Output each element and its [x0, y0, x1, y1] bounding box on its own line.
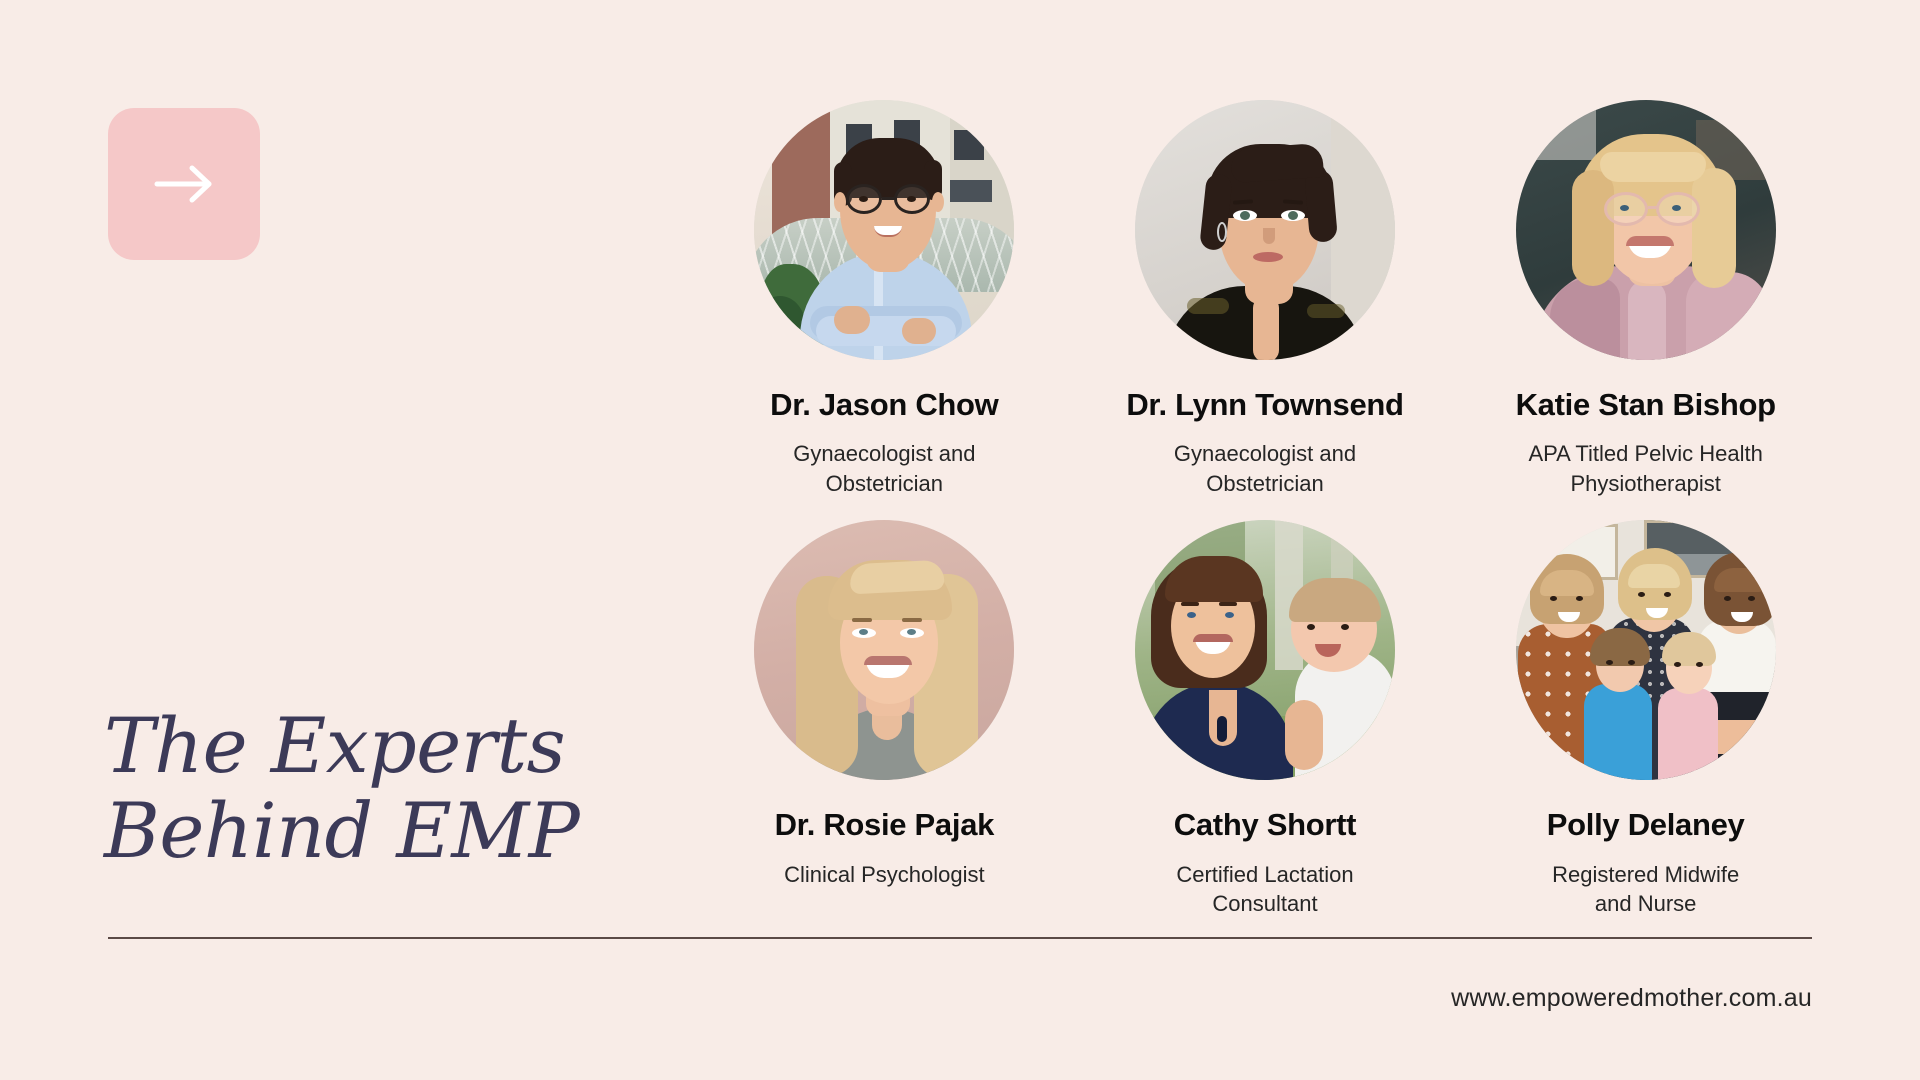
- expert-role: Clinical Psychologist: [784, 860, 985, 890]
- expert-card: Polly Delaney Registered Midwife and Nur…: [1461, 520, 1830, 918]
- expert-role: Gynaecologist and Obstetrician: [1174, 439, 1356, 498]
- avatar: [1516, 100, 1776, 360]
- expert-name: Polly Delaney: [1547, 808, 1745, 842]
- expert-card: Dr. Lynn Townsend Gynaecologist and Obst…: [1081, 100, 1450, 498]
- avatar: [754, 520, 1014, 780]
- expert-role: APA Titled Pelvic Health Physiotherapist: [1528, 439, 1762, 498]
- expert-name: Katie Stan Bishop: [1516, 388, 1776, 422]
- slide-canvas: The Experts Behind EMP: [0, 0, 1920, 1080]
- avatar: [1135, 520, 1395, 780]
- expert-role: Certified Lactation Consultant: [1176, 860, 1353, 919]
- expert-name: Dr. Lynn Townsend: [1126, 388, 1403, 422]
- next-arrow-button[interactable]: [108, 108, 260, 260]
- expert-card: Cathy Shortt Certified Lactation Consult…: [1081, 520, 1450, 918]
- expert-role: Registered Midwife and Nurse: [1552, 860, 1739, 919]
- website-url[interactable]: www.empoweredmother.com.au: [1451, 984, 1812, 1013]
- expert-card: Katie Stan Bishop APA Titled Pelvic Heal…: [1461, 100, 1830, 498]
- expert-name: Cathy Shortt: [1174, 808, 1356, 842]
- expert-name: Dr. Jason Chow: [770, 388, 998, 422]
- avatar: [1135, 100, 1395, 360]
- avatar: [1516, 520, 1776, 780]
- expert-card: Dr. Jason Chow Gynaecologist and Obstetr…: [700, 100, 1069, 498]
- page-title: The Experts Behind EMP: [104, 703, 624, 873]
- experts-grid: Dr. Jason Chow Gynaecologist and Obstetr…: [700, 100, 1830, 919]
- avatar: [754, 100, 1014, 360]
- expert-role: Gynaecologist and Obstetrician: [793, 439, 975, 498]
- expert-card: Dr. Rosie Pajak Clinical Psychologist: [700, 520, 1069, 918]
- footer-divider: [108, 937, 1812, 939]
- expert-name: Dr. Rosie Pajak: [775, 808, 995, 842]
- arrow-right-icon: [153, 164, 215, 204]
